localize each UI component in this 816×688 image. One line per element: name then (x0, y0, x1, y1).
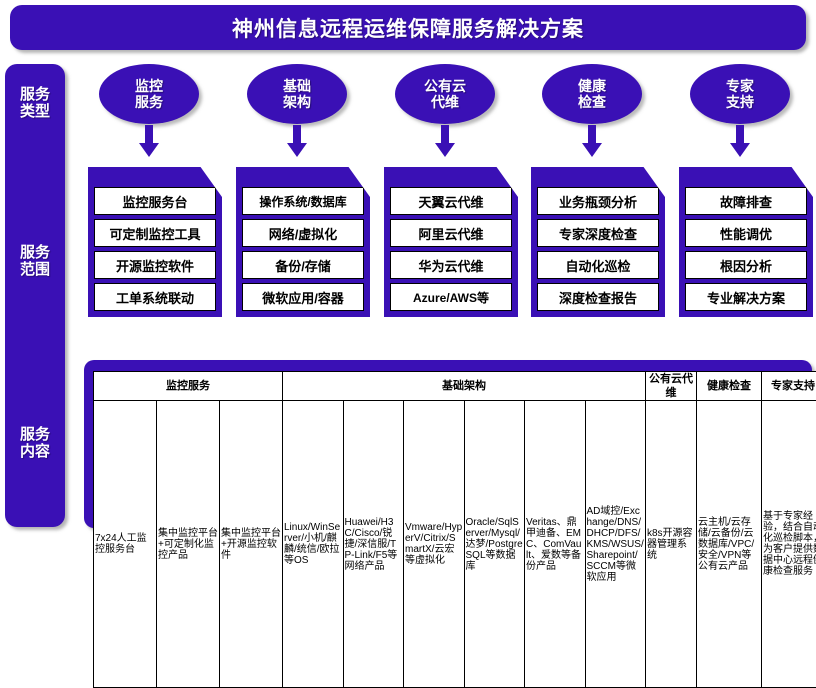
table-cell: Veritas、鼎甲迪备、EMC、ComVault、爱数等备份产品 (525, 401, 586, 688)
table-group-header: 基础架构 (283, 372, 646, 401)
table-group-header-row: 监控服务基础架构公有云代维健康检查专家支持 (94, 372, 816, 401)
down-arrow-icon (729, 125, 751, 158)
scope-panel-items: 业务瓶颈分析专家深度检查自动化巡检深度检查报告 (537, 187, 659, 311)
scope-item[interactable]: 专家深度检查 (537, 219, 659, 247)
table-cell: 基于专家经验，结合自动化巡检脚本，为客户提供数据中心远程健康检查服务 (762, 401, 816, 688)
row-label-service-type-line1: 服务 (5, 86, 65, 103)
category-ellipse-infrastructure[interactable]: 基础架构 (247, 64, 347, 124)
category-ellipse-label: 基础架构 (283, 78, 311, 110)
scope-item[interactable]: 天翼云代维 (390, 187, 512, 215)
scope-item[interactable]: 网络/虚拟化 (242, 219, 364, 247)
category-label-line2: 支持 (726, 94, 754, 110)
scope-item[interactable]: 备份/存储 (242, 251, 364, 279)
category-label-line2: 服务 (135, 94, 163, 110)
scope-item[interactable]: 根因分析 (685, 251, 807, 279)
category-label-line1: 专家 (726, 78, 754, 94)
category-ellipse-label: 监控服务 (135, 78, 163, 110)
row-label-service-scope-line1: 服务 (5, 244, 65, 261)
row-label-service-content-line1: 服务 (5, 426, 65, 443)
scope-item[interactable]: 监控服务台 (94, 187, 216, 215)
table-cell: 云主机/云存储/云备份/云数据库/VPC/安全/VPN等公有云产品 (697, 401, 762, 688)
table-cell: 集中监控平台+可定制化监控产品 (157, 401, 220, 688)
table-row: 7x24人工监控服务台集中监控平台+可定制化监控产品集中监控平台+开源监控软件L… (94, 401, 816, 688)
scope-panel-items: 操作系统/数据库网络/虚拟化备份/存储微软应用/容器 (242, 187, 364, 311)
down-arrow-icon (581, 125, 603, 158)
down-arrow-icon (286, 125, 308, 158)
scope-item[interactable]: 故障排查 (685, 187, 807, 215)
category-ellipse-label: 健康检查 (578, 78, 606, 110)
scope-item[interactable]: 操作系统/数据库 (242, 187, 364, 215)
table-cell: k8s开源容器管理系统 (646, 401, 697, 688)
scope-item[interactable]: 华为云代维 (390, 251, 512, 279)
scope-item[interactable]: Azure/AWS等 (390, 283, 512, 311)
category-ellipse-expert-support[interactable]: 专家支持 (690, 64, 790, 124)
scope-panel-items: 天翼云代维阿里云代维华为云代维Azure/AWS等 (390, 187, 512, 311)
scope-item[interactable]: 工单系统联动 (94, 283, 216, 311)
table-cell: AD域控/Exchange/DNS/DHCP/DFS/KMS/WSUS/Shar… (585, 401, 646, 688)
down-arrow-icon (138, 125, 160, 158)
table-group-header: 公有云代维 (646, 372, 697, 401)
category-label-line1: 健康 (578, 78, 606, 94)
category-ellipse-label: 公有云代维 (424, 78, 466, 110)
scope-panel-public-cloud: 天翼云代维阿里云代维华为云代维Azure/AWS等 (384, 167, 518, 317)
category-label-line1: 基础 (283, 78, 311, 94)
category-ellipse-label: 专家支持 (726, 78, 754, 110)
scope-item[interactable]: 业务瓶颈分析 (537, 187, 659, 215)
category-label-line1: 公有云 (424, 78, 466, 94)
category-ellipse-monitoring[interactable]: 监控服务 (99, 64, 199, 124)
table-cell: Oracle/SqlServer/Mysql/达梦/PostgreSQL等数据库 (464, 401, 525, 688)
table-group-header: 监控服务 (94, 372, 283, 401)
page-title-banner: 神州信息远程运维保障服务解决方案 (10, 5, 806, 50)
category-ellipse-public-cloud[interactable]: 公有云代维 (395, 64, 495, 124)
category-label-line2: 架构 (283, 94, 311, 110)
scope-panel-monitoring: 监控服务台可定制监控工具开源监控软件工单系统联动 (88, 167, 222, 317)
row-label-service-content-line2: 内容 (5, 443, 65, 460)
diagram-canvas: 神州信息远程运维保障服务解决方案 服务 类型 服务 范围 服务 内容 监控服务监… (0, 0, 816, 533)
table-cell: Vmware/HyperV/Citrix/SmartX/云宏等虚拟化 (404, 401, 465, 688)
table-cell: Huawei/H3C/Cisco/锐捷/深信服/TP-Link/F5等网络产品 (343, 401, 404, 688)
row-label-service-type: 服务 类型 (5, 86, 65, 120)
row-label-service-content: 服务 内容 (5, 426, 65, 460)
scope-panel-items: 监控服务台可定制监控工具开源监控软件工单系统联动 (94, 187, 216, 311)
table-group-header: 健康检查 (697, 372, 762, 401)
category-label-line2: 检查 (578, 94, 606, 110)
table-cell: 7x24人工监控服务台 (94, 401, 157, 688)
category-label-line2: 代维 (424, 94, 466, 110)
service-content-table-panel: 监控服务基础架构公有云代维健康检查专家支持 7x24人工监控服务台集中监控平台+… (84, 360, 812, 528)
scope-panel-health-check: 业务瓶颈分析专家深度检查自动化巡检深度检查报告 (531, 167, 665, 317)
row-label-service-type-line2: 类型 (5, 103, 65, 120)
row-label-sidebar: 服务 类型 服务 范围 服务 内容 (5, 64, 65, 527)
scope-item[interactable]: 深度检查报告 (537, 283, 659, 311)
category-ellipse-health-check[interactable]: 健康检查 (542, 64, 642, 124)
table-group-header: 专家支持 (762, 372, 816, 401)
row-label-service-scope: 服务 范围 (5, 244, 65, 278)
scope-panel-items: 故障排查性能调优根因分析专业解决方案 (685, 187, 807, 311)
scope-item[interactable]: 阿里云代维 (390, 219, 512, 247)
table-cell: 集中监控平台+开源监控软件 (220, 401, 283, 688)
scope-item[interactable]: 开源监控软件 (94, 251, 216, 279)
scope-item[interactable]: 专业解决方案 (685, 283, 807, 311)
scope-item[interactable]: 性能调优 (685, 219, 807, 247)
page-title: 神州信息远程运维保障服务解决方案 (232, 13, 584, 43)
down-arrow-icon (434, 125, 456, 158)
scope-panel-expert-support: 故障排查性能调优根因分析专业解决方案 (679, 167, 813, 317)
table-cell: Linux/WinServer/小机/麒麟/统信/欧拉等OS (283, 401, 344, 688)
scope-panel-infrastructure: 操作系统/数据库网络/虚拟化备份/存储微软应用/容器 (236, 167, 370, 317)
row-label-service-scope-line2: 范围 (5, 261, 65, 278)
scope-item[interactable]: 微软应用/容器 (242, 283, 364, 311)
scope-item[interactable]: 自动化巡检 (537, 251, 659, 279)
category-label-line1: 监控 (135, 78, 163, 94)
service-content-table: 监控服务基础架构公有云代维健康检查专家支持 7x24人工监控服务台集中监控平台+… (93, 371, 816, 688)
scope-item[interactable]: 可定制监控工具 (94, 219, 216, 247)
